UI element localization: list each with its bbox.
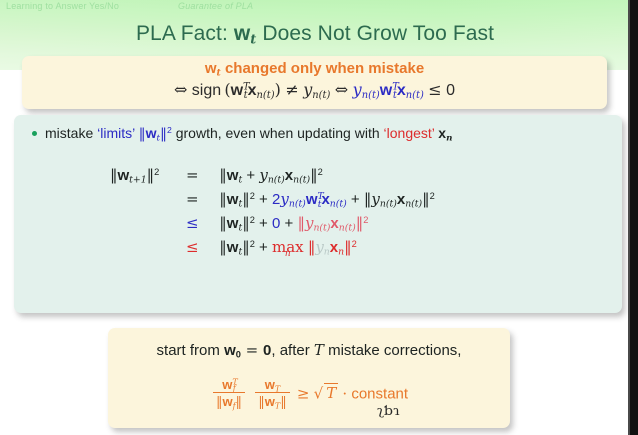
equation-relation: = — [175, 163, 209, 187]
constant-label: constant — [351, 385, 408, 402]
breadcrumb-subsection: Guarantee of PLA — [178, 1, 253, 11]
bullet-limits: ‘limits’ — [97, 125, 135, 141]
result-statement: start from w0 = 0, after T mistake corre… — [108, 341, 510, 359]
breadcrumb-section: Learning to Answer Yes/No — [6, 1, 119, 11]
equation-rhs: ‖wt + yn(t)xn(t)‖2 — [209, 163, 435, 187]
equation-row: ‖wt+1‖2 = ‖wt + yn(t)xn(t)‖2 — [110, 163, 435, 187]
slide: Learning to Answer Yes/No Guarantee of P… — [0, 0, 638, 435]
page-title-vector: w — [234, 22, 250, 45]
geq-symbol: ≥ — [297, 384, 310, 402]
claim-zero: 0 — [446, 82, 455, 99]
equation-row: = ‖wt‖2 + 2yn(t)wTtxn(t) + ‖yn(t)xn(t)‖2 — [110, 187, 435, 211]
equation-relation: ≤ — [175, 235, 209, 259]
claim-box: wt changed only when mistake ⇔ sign (wTt… — [22, 56, 607, 109]
bullet-tail-subscript: n — [446, 133, 452, 143]
equation-row: ≤ ‖wt‖2 + 0 + ‖yn(t)xn(t)‖2 — [110, 211, 435, 235]
equation-lhs-empty — [110, 187, 175, 211]
dot-symbol: · — [342, 384, 347, 402]
equation-row: ≤ ‖wt‖2 + maxn ‖ynxn‖2 — [110, 235, 435, 259]
result-inequality: wTf ‖wf‖ wT ‖wT‖ ≥ √T · constant — [108, 378, 510, 411]
derivation-box: mistake ‘limits’ ‖wt‖2 growth, even when… — [14, 115, 622, 313]
bullet-dot-icon — [32, 131, 37, 136]
claim-equation: ⇔ sign (wTtxn(t)) ≠ yn(t) ⇔ yn(t)wTtxn(t… — [22, 80, 607, 100]
claim-headline-vector: w — [205, 60, 217, 77]
sqrt-radicand: T — [324, 383, 338, 402]
right-edge-bar — [630, 0, 638, 435]
result-pre: start from — [157, 342, 225, 359]
equation-lhs-empty — [110, 211, 175, 235]
claim-headline-text: changed only when mistake — [221, 60, 424, 77]
derivation-equations: ‖wt+1‖2 = ‖wt + yn(t)xn(t)‖2 = ‖wt‖2 + 2… — [110, 163, 435, 259]
fraction-wT: wT ‖wT‖ — [255, 377, 290, 410]
iff-symbol-2: ⇔ — [335, 80, 348, 99]
claim-headline: wt changed only when mistake — [22, 60, 607, 77]
leq-symbol: ≤ — [428, 80, 441, 99]
result-equals: = — [241, 341, 263, 359]
bullet-mid: growth, even when updating with — [172, 125, 384, 141]
equation-relation: ≤ — [175, 211, 209, 235]
equation-rhs: ‖wt‖2 + maxn ‖ynxn‖2 — [209, 235, 435, 259]
max-operator-subscript: n — [272, 249, 304, 259]
page-title-suffix: Does Not Grow Too Fast — [256, 22, 494, 45]
sqrt-symbol: √ — [314, 384, 324, 402]
iff-symbol-1: ⇔ — [174, 80, 187, 99]
equation-relation: = — [175, 187, 209, 211]
result-post: mistake corrections, — [324, 342, 462, 359]
result-T: T — [314, 341, 324, 359]
equation-lhs-empty — [110, 235, 175, 259]
equation-lhs: ‖wt+1‖2 — [110, 163, 175, 187]
neq-symbol: ≠ — [285, 80, 298, 99]
page-title: PLA Fact: wt Does Not Grow Too Fast — [0, 22, 630, 46]
result-w: w — [224, 342, 236, 359]
result-box: start from w0 = 0, after T mistake corre… — [108, 328, 510, 428]
fraction-wf: wTf ‖wf‖ — [213, 377, 245, 410]
equation-rhs: ‖wt‖2 + 2yn(t)wTtxn(t) + ‖yn(t)xn(t)‖2 — [209, 187, 435, 211]
zero-term: 0 — [272, 215, 280, 232]
bullet-tail-vector: x — [438, 125, 446, 141]
result-mid: , after — [271, 342, 314, 359]
bullet-lead: mistake — [45, 125, 97, 141]
handwritten-scribble-icon: ʅƅɿ — [377, 404, 400, 419]
bullet-longest: ‘longest’ — [384, 125, 435, 141]
page-title-prefix: PLA Fact: — [136, 22, 234, 45]
bullet-statement: mistake ‘limits’ ‖wt‖2 growth, even when… — [32, 125, 617, 142]
breadcrumb: Learning to Answer Yes/No Guarantee of P… — [0, 0, 620, 16]
sign-label: sign — [192, 82, 221, 99]
equation-rhs: ‖wt‖2 + 0 + ‖yn(t)xn(t)‖2 — [209, 211, 435, 235]
